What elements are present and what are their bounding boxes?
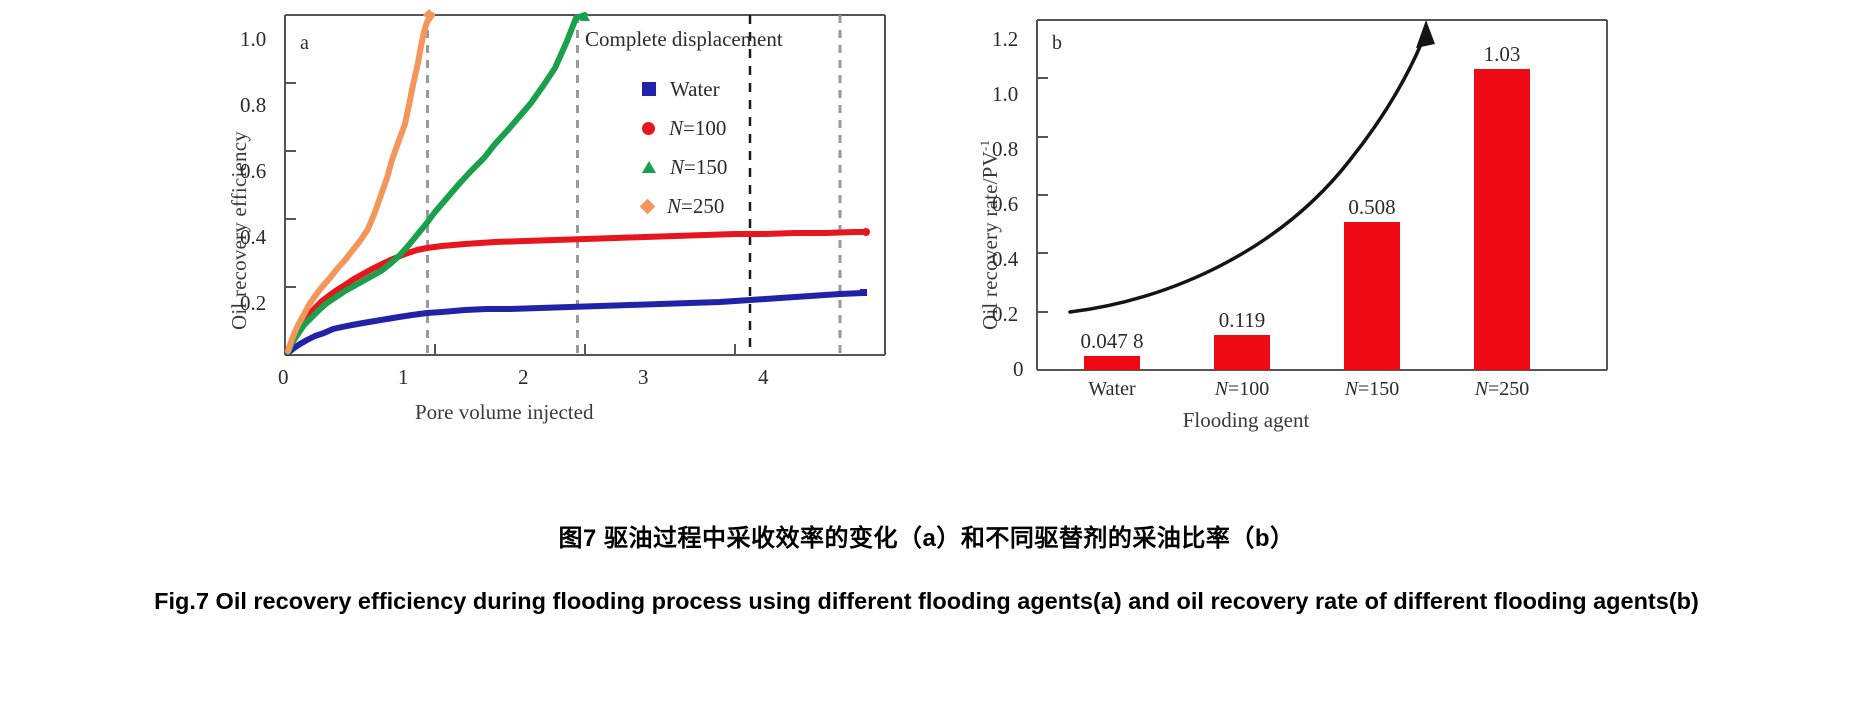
panel-b-ytick-0.2: 0.2 — [992, 302, 1018, 327]
panel-a-legend: Water N=100 N=150 N=250 — [642, 78, 727, 217]
bar-value-n150: 0.508 — [1348, 195, 1395, 220]
legend-label-n250: N=250 — [667, 194, 724, 219]
legend-marker-square-icon — [642, 82, 656, 96]
bar-value-n100: 0.119 — [1219, 308, 1265, 333]
panel-a-plot-canvas — [230, 0, 890, 420]
legend-label-n150: N=150 — [670, 155, 727, 180]
panel-a-x-axis-label: Pore volume injected — [415, 400, 593, 425]
panel-b-x-axis-label: Flooding agent — [1183, 408, 1310, 433]
panel-a-line-chart: Oil recovery efficiency 1.0 0.8 0.6 0.4 … — [230, 0, 890, 500]
panel-b-ytick-0.8: 0.8 — [992, 137, 1018, 162]
panel-b-bar-chart: Oil recovery rate/PV-1 1.2 1.0 0.8 0.6 0… — [980, 0, 1620, 500]
panel-b-ytick-1.2: 1.2 — [992, 27, 1018, 52]
caption-chinese: 图7 驱油过程中采收效率的变化（a）和不同驱替剂的采油比率（b） — [0, 518, 1853, 553]
panel-a-ytick-0.4: 0.4 — [240, 225, 266, 250]
bar-n150 — [1344, 222, 1400, 370]
category-label-n150: N=150 — [1345, 378, 1400, 401]
panel-a-xtick-1: 1 — [398, 365, 409, 390]
category-label-n100: N=100 — [1215, 378, 1270, 401]
category-label-water: Water — [1088, 378, 1135, 401]
panel-a-tag: a — [300, 32, 309, 55]
panel-a-ytick-0.6: 0.6 — [240, 159, 266, 184]
panel-a-xtick-2: 2 — [518, 365, 529, 390]
bar-n250 — [1474, 69, 1530, 370]
series-n150 — [288, 12, 590, 352]
figure-captions: 图7 驱油过程中采收效率的变化（a）和不同驱替剂的采油比率（b） Fig.7 O… — [0, 500, 1853, 619]
panel-b-plot-canvas — [980, 0, 1620, 420]
panel-a-ytick-0.2: 0.2 — [240, 291, 266, 316]
panel-a-ytick-0.8: 0.8 — [240, 93, 266, 118]
legend-label-n100: N=100 — [669, 116, 726, 141]
category-label-n250: N=250 — [1475, 378, 1530, 401]
bar-n100 — [1214, 335, 1270, 370]
panel-b-tag: b — [1052, 32, 1062, 55]
panel-a-ytick-1.0: 1.0 — [240, 27, 266, 52]
legend-marker-triangle-icon — [642, 161, 656, 173]
panel-a-xtick-3: 3 — [638, 365, 649, 390]
legend-item-n250: N=250 — [642, 195, 727, 217]
series-n250 — [288, 9, 435, 351]
bar-value-n250: 1.03 — [1484, 42, 1521, 67]
bar-water — [1084, 356, 1140, 370]
bar-value-water: 0.047 8 — [1081, 329, 1144, 354]
legend-item-water: Water — [642, 78, 727, 100]
legend-item-n150: N=150 — [642, 156, 727, 178]
panel-b-ytick-0.6: 0.6 — [992, 192, 1018, 217]
panel-a-xtick-0: 0 — [278, 365, 289, 390]
panel-b-bars — [1084, 69, 1530, 370]
legend-label-water: Water — [670, 77, 720, 102]
legend-marker-circle-icon — [642, 122, 655, 135]
panel-b-ytick-0.4: 0.4 — [992, 247, 1018, 272]
legend-marker-diamond-icon — [640, 198, 656, 214]
legend-item-n100: N=100 — [642, 117, 727, 139]
panel-b-ytick-0: 0 — [1013, 357, 1024, 382]
caption-english: Fig.7 Oil recovery efficiency during flo… — [67, 583, 1787, 619]
panel-a-xtick-4: 4 — [758, 365, 769, 390]
panel-a-annotation-complete-displacement: Complete displacement — [585, 27, 783, 52]
panel-b-ytick-1.0: 1.0 — [992, 82, 1018, 107]
figure-area: Oil recovery efficiency 1.0 0.8 0.6 0.4 … — [0, 0, 1853, 500]
panel-b-y-axis-label-exponent: -1 — [977, 140, 992, 151]
